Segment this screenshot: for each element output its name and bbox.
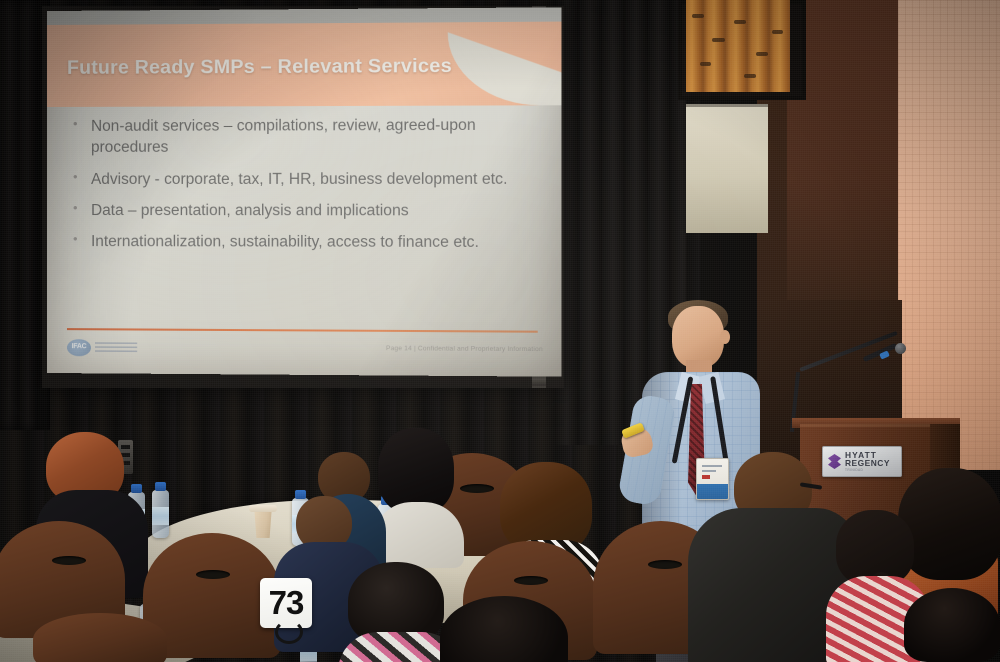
- ifac-globe-logo-icon: [67, 339, 91, 356]
- slide-bullet-item: Data – presentation, analysis and implic…: [64, 200, 543, 222]
- slide-footer-text: Page 14 | Confidential and Proprietary I…: [386, 345, 543, 353]
- slide-accent-rule: [67, 328, 538, 333]
- speaker-ear: [720, 330, 730, 344]
- slide-bullet-item: Advisory - corporate, tax, IT, HR, busin…: [64, 168, 543, 190]
- table-number-value: 73: [269, 584, 304, 622]
- hyatt-brand-line2: REGENCY: [845, 459, 890, 467]
- speaker-head: [672, 306, 724, 368]
- table-number-wire-holder: [275, 620, 303, 644]
- chair-handle-slot: [648, 560, 682, 569]
- speaker-name-badge: [696, 458, 729, 500]
- presentation-slide: Future Ready SMPs – Relevant Services No…: [47, 7, 562, 376]
- slide-title: Future Ready SMPs – Relevant Services: [67, 55, 452, 80]
- banquet-chair: [150, 540, 274, 658]
- chair-handle-slot: [460, 484, 494, 493]
- conference-photo-scene: Future Ready SMPs – Relevant Services No…: [0, 0, 1000, 662]
- slide-bullet-item: Non-audit services – compilations, revie…: [64, 114, 543, 158]
- audience-hair: [898, 468, 1000, 580]
- ifac-logo-wordmark: [95, 342, 137, 353]
- chair-handle-slot: [514, 576, 548, 585]
- slide-bullet-item: Internationalization, sustainability, ac…: [64, 231, 543, 253]
- bamboo-decorative-panel: [686, 0, 790, 92]
- audience-head: [904, 588, 1000, 662]
- slide-bullet-list: Non-audit services – compilations, revie…: [64, 114, 543, 263]
- peach-wall-panel: [898, 0, 1000, 470]
- water-bottle: [152, 490, 169, 538]
- hyatt-regency-plaque: HYATT REGENCY TRINIDAD: [822, 446, 902, 477]
- banquet-chair: [40, 620, 160, 662]
- cream-wall-panel: [686, 104, 768, 233]
- hyatt-diamond-logo-icon: [828, 454, 841, 469]
- chair-handle-slot: [196, 570, 230, 579]
- hyatt-wordmark: HYATT REGENCY TRINIDAD: [845, 451, 890, 472]
- coffee-cup-lid: [249, 505, 277, 512]
- microphone-icon: [895, 343, 906, 354]
- chair-handle-slot: [52, 556, 86, 565]
- hyatt-brand-sub: TRINIDAD: [845, 469, 890, 472]
